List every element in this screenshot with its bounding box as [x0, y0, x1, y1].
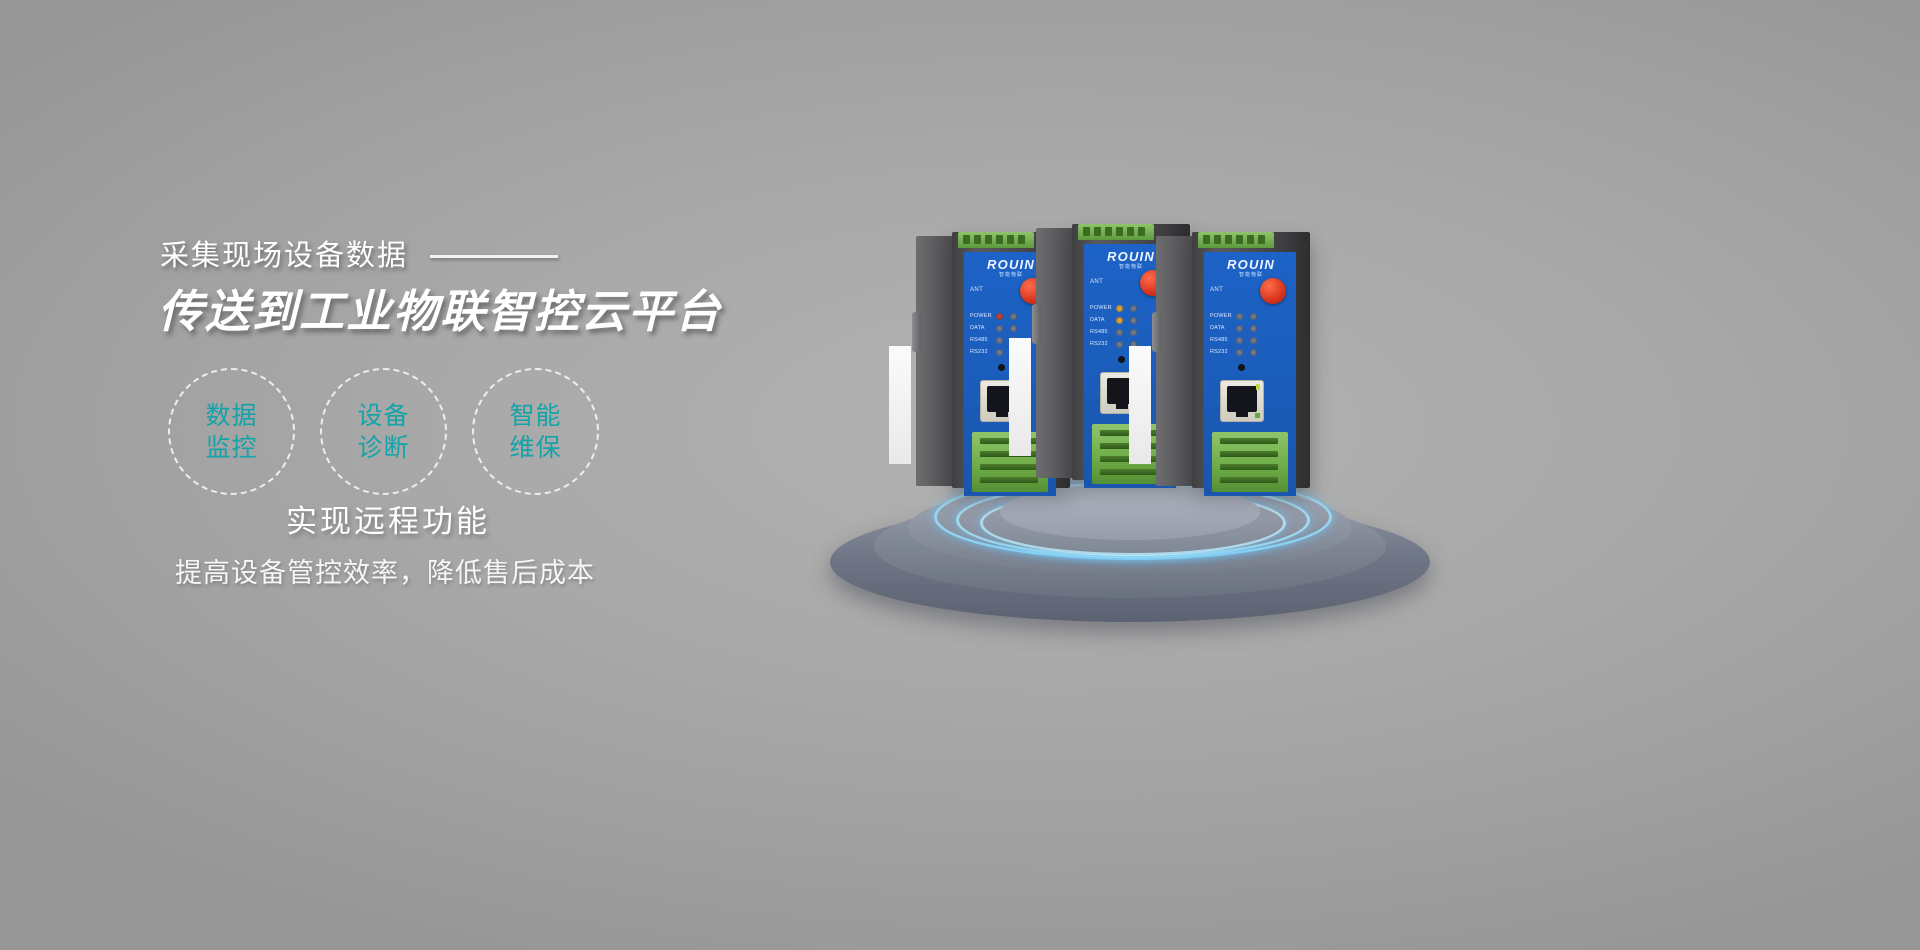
led-label-rs485: RS485: [1090, 329, 1116, 335]
feature-circle-data-monitoring[interactable]: 数据 监控: [168, 368, 295, 495]
led-data-icon: [1116, 317, 1123, 324]
led-row-power: POWER: [1210, 310, 1294, 322]
top-terminal-block: [1198, 232, 1274, 248]
device-side-panel: [1036, 228, 1076, 478]
led-label-power: POWER: [1090, 305, 1116, 311]
device-spec-label: [889, 346, 911, 464]
antenna-label: ANT: [1090, 279, 1103, 285]
feature-label-line2: 诊断: [357, 432, 409, 464]
led-aux-icon: [1250, 325, 1257, 332]
antenna-connector-icon: [1260, 278, 1286, 304]
feature-label-line1: 数据: [205, 400, 257, 432]
subheading: 实现远程功能: [286, 496, 490, 541]
device-spec-label: [1129, 346, 1151, 464]
led-aux-icon: [1130, 329, 1137, 336]
led-rs485-icon: [1116, 329, 1123, 336]
led-label-rs232: RS232: [1090, 341, 1116, 347]
antenna-label: ANT: [1210, 287, 1223, 293]
kicker-text: 采集现场设备数据: [160, 242, 408, 271]
led-label-data: DATA: [970, 325, 996, 331]
led-indicator-block: POWER DATA RS485: [1210, 310, 1294, 358]
feature-label-line2: 监控: [205, 432, 257, 464]
screw-terminal-block: [1212, 432, 1288, 492]
led-aux-icon: [1130, 317, 1137, 324]
led-power-icon: [1236, 313, 1243, 320]
led-aux-icon: [1010, 313, 1017, 320]
din-rail-clip-icon: [1032, 304, 1041, 344]
led-label-rs485: RS485: [970, 337, 996, 343]
antenna-row: ANT: [1210, 278, 1292, 306]
led-label-data: DATA: [1210, 325, 1236, 331]
led-label-rs232: RS232: [1210, 349, 1236, 355]
feature-circle-list: 数据 监控 设备 诊断 智能 维保: [168, 368, 624, 495]
banner-stage: 采集现场设备数据 传送到工业物联智控云平台 数据 监控 设备 诊断 智能 维保 …: [0, 0, 1920, 950]
led-label-rs485: RS485: [1210, 337, 1236, 343]
device-side-panel: [1156, 236, 1196, 486]
kicker-rule: [430, 255, 558, 258]
led-aux-icon: [1130, 305, 1137, 312]
led-aux-icon: [1250, 337, 1257, 344]
brand-name: ROUIN: [1212, 258, 1290, 271]
device-side-panel: [916, 236, 956, 486]
led-label-power: POWER: [1210, 313, 1236, 319]
top-terminal-block: [958, 232, 1034, 248]
led-row-data: DATA: [1210, 322, 1294, 334]
brand-logo: ROUIN 智能物联: [1212, 258, 1290, 278]
kicker-row: 采集现场设备数据: [160, 242, 558, 271]
page-title: 传送到工业物联智控云平台: [158, 285, 722, 340]
feature-label-line1: 设备: [357, 400, 409, 432]
feature-label-line1: 智能: [509, 400, 561, 432]
device-spec-label: [1009, 338, 1031, 456]
led-power-icon: [996, 313, 1003, 320]
din-rail-clip-icon: [1152, 312, 1161, 352]
led-label-data: DATA: [1090, 317, 1116, 323]
led-rs485-icon: [1236, 337, 1243, 344]
led-label-rs232: RS232: [970, 349, 996, 355]
product-scene: ROUIN 智能物联 ANT POWER D: [800, 150, 1560, 710]
feature-label-line2: 维保: [509, 432, 561, 464]
led-aux-icon: [1250, 349, 1257, 356]
led-data-icon: [996, 325, 1003, 332]
reset-button[interactable]: [1238, 364, 1245, 371]
feature-circle-smart-maintenance[interactable]: 智能 维保: [472, 368, 599, 495]
led-row-rs232: RS232: [1210, 346, 1294, 358]
reset-button[interactable]: [1118, 356, 1125, 363]
device-front-face: ROUIN 智能物联 ANT POWER D: [1204, 252, 1296, 496]
led-aux-icon: [1010, 325, 1017, 332]
ethernet-port-icon: [1220, 380, 1264, 422]
led-rs232-icon: [996, 349, 1003, 356]
led-data-icon: [1236, 325, 1243, 332]
feature-circle-device-diagnosis[interactable]: 设备 诊断: [320, 368, 447, 495]
gateway-device-right[interactable]: ROUIN 智能物联 ANT POWER D: [1192, 218, 1310, 488]
led-row-rs485: RS485: [1210, 334, 1294, 346]
led-aux-icon: [1250, 313, 1257, 320]
led-label-power: POWER: [970, 313, 996, 319]
tagline: 提高设备管控效率，降低售后成本: [175, 551, 595, 590]
copy-block: 采集现场设备数据 传送到工业物联智控云平台 数据 监控 设备 诊断 智能 维保 …: [0, 0, 780, 950]
led-rs485-icon: [996, 337, 1003, 344]
din-rail-clip-icon: [912, 312, 921, 352]
device-body: ROUIN 智能物联 ANT POWER D: [1192, 232, 1310, 488]
led-power-icon: [1116, 305, 1123, 312]
led-rs232-icon: [1116, 341, 1123, 348]
reset-button[interactable]: [998, 364, 1005, 371]
led-rs232-icon: [1236, 349, 1243, 356]
top-terminal-block: [1078, 224, 1154, 240]
antenna-label: ANT: [970, 287, 983, 293]
